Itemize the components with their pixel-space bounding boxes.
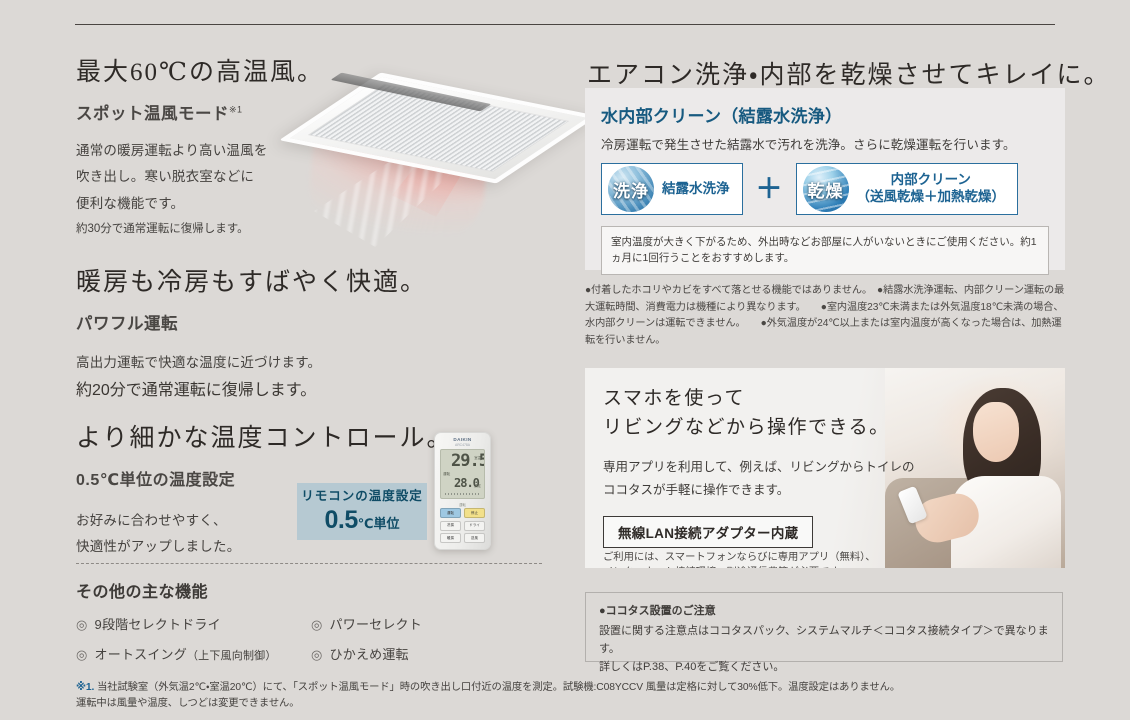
badge-unit: ℃単位 <box>358 516 400 531</box>
smartphone-headline: スマホを使って リビングなどから操作できる。 <box>603 384 890 443</box>
smartphone-headline-line2: リビングなどから操作できる。 <box>603 413 890 442</box>
chip-wash-text: 結露水洗浄 <box>662 181 730 198</box>
remote-button-cooling[interactable]: 冷房 <box>440 521 461 531</box>
spot-subhead: スポット温風モード※1 <box>76 100 324 124</box>
plus-icon: ＋ <box>756 176 783 203</box>
double-circle-icon: ◎ <box>76 647 88 663</box>
section-spot-warm-mode: 最大60℃の高温風。 スポット温風モード※1 通常の暖房運転より高い温風を 吹き… <box>76 52 324 239</box>
chip-dry: 乾燥 内部クリーン （送風乾燥＋加熱乾燥） <box>796 163 1019 215</box>
chip-dry-line1: 内部クリーン <box>857 172 1006 189</box>
smartphone-panel: スマホを使って リビングなどから操作できる。 専用アプリを利用して、例えば、リビ… <box>585 368 1065 568</box>
remote-button-start[interactable]: 運転 <box>440 508 461 518</box>
list-item-label: ひかえめ運転 <box>330 644 409 663</box>
clean-headline: エアコン洗浄・内部を乾燥させてキレイに。 <box>587 55 1111 91</box>
list-item: ◎ 9段階セレクトドライ <box>76 614 311 633</box>
chip-wash: 洗浄 結露水洗浄 <box>601 163 743 215</box>
list-item-label: パワーセレクト <box>330 614 422 633</box>
half-degree-badge: リモコンの温度設定 0.5℃単位 <box>297 483 427 540</box>
face-shape <box>973 402 1019 462</box>
list-item: ◎ オートスイング（上下風向制御） <box>76 644 311 663</box>
section-powerful-operation: 暖房も冷房もすばやく快適。 パワフル運転 高出力運転で快適な温度に近づけます。 … <box>76 262 427 400</box>
lcd-label-setting: 設定 <box>474 483 481 488</box>
spot-subhead-label: スポット温風モード <box>76 105 229 123</box>
other-functions-grid: ◎ 9段階セレクトドライ ◎ パワーセレクト ◎ オートスイング（上下風向制御）… <box>76 614 546 674</box>
smartphone-note: ご利用には、スマートフォンならびに専用アプリ（無料）、 インターネット接続環境、… <box>603 550 876 568</box>
list-item: ◎ パワーセレクト <box>311 614 546 633</box>
remote-button-row-1: 運転 停止 <box>440 508 485 518</box>
badge-caption: リモコンの温度設定 <box>297 490 427 504</box>
water-clean-subtitle: 冷房運転で発生させた結露水で汚れを洗浄。さらに乾燥運転を行います。 <box>601 134 1065 153</box>
list-item-label: 9段階セレクトドライ <box>95 614 221 633</box>
spot-headline: 最大60℃の高温風。 <box>76 52 324 88</box>
lcd-label-left: 運転 <box>443 472 450 477</box>
remote-model-label: ARC478A <box>440 443 485 447</box>
other-functions-title: その他の主な機能 <box>76 578 546 602</box>
page-root: 最大60℃の高温風。 スポット温風モード※1 通常の暖房運転より高い温風を 吹き… <box>0 0 1130 720</box>
clean-process-row: 洗浄 結露水洗浄 ＋ 乾燥 内部クリーン （送風乾燥＋加熱乾燥） <box>601 163 1065 215</box>
water-clean-note: 室内温度が大きく下がるため、外出時などお部屋に人がいないときにご使用ください。約… <box>601 226 1049 275</box>
remote-button-fan[interactable]: 送風 <box>464 533 485 543</box>
remote-button-row-2: 冷房 ドライ <box>440 521 485 531</box>
footnote-text: 当社試験室（外気温2℃・室温20℃）にて、「スポット温風モード」時の吹き出し口付… <box>76 682 900 709</box>
lcd-label-room: 室温 <box>474 455 481 460</box>
wireless-lan-badge: 無線LAN接続アダプター内蔵 <box>603 516 813 548</box>
powerful-note: 約20分で通常運転に復帰します。 <box>76 376 427 400</box>
badge-value-row: 0.5℃単位 <box>297 508 427 533</box>
water-clean-title: 水内部クリーン（結露水洗浄） <box>601 102 1065 127</box>
double-circle-icon: ◎ <box>311 647 323 663</box>
spot-footnote-marker: ※1 <box>229 105 243 115</box>
temp-headline: より細かな温度コントロール。 <box>76 418 454 454</box>
wash-disc-icon: 洗浄 <box>608 166 654 212</box>
cocotas-notice-title: ●ココタス設置のご注意 <box>599 602 1049 620</box>
powerful-subhead: パワフル運転 <box>76 310 427 334</box>
footnote-marker: ※1. <box>76 682 94 693</box>
cocotas-notice-body: 設置に関する注意点はココタスパック、システムマルチ＜ココタス接続タイプ＞で異なり… <box>599 622 1049 676</box>
remote-button-dry[interactable]: ドライ <box>464 521 485 531</box>
ceiling-unit-illustration <box>300 45 565 260</box>
lcd-indicator-bar <box>445 493 480 495</box>
wash-disc-label: 洗浄 <box>613 177 649 202</box>
daikin-logo: DAIKIN <box>440 437 485 442</box>
left-column: 最大60℃の高温風。 スポット温風モード※1 通常の暖房運転より高い温風を 吹き… <box>0 0 575 720</box>
spot-body: 通常の暖房運転より高い温風を 吹き出し。寒い脱衣室などに 便利な機能です。 <box>76 138 324 217</box>
smartphone-body: 専用アプリを利用して、例えば、リビングからトイレの ココタスが手軽に操作できます… <box>603 456 915 502</box>
list-item: ◎ ひかえめ運転 <box>311 644 546 663</box>
remote-control-photo: DAIKIN ARC478A 29.5 運転 室温 28.0 設定 運転 運転 … <box>434 432 491 550</box>
dry-disc-label: 乾燥 <box>808 177 844 202</box>
dashed-divider <box>76 563 542 564</box>
water-clean-fineprint: ●付着したホコリやカビをすべて落とせる機能ではありません。 ●結露水洗浄運転、内… <box>585 283 1067 349</box>
cocotas-notice-box: ●ココタス設置のご注意 設置に関する注意点はココタスパック、システムマルチ＜ココ… <box>585 592 1063 662</box>
powerful-body: 高出力運転で快適な温度に近づけます。 <box>76 350 427 376</box>
section-other-functions: その他の主な機能 ◎ 9段階セレクトドライ ◎ パワーセレクト ◎ オートスイン… <box>76 578 546 674</box>
remote-button-row-3: 暖房 送風 <box>440 533 485 543</box>
double-circle-icon: ◎ <box>311 617 323 633</box>
double-circle-icon: ◎ <box>76 617 88 633</box>
list-item-label: オートスイング <box>95 644 187 663</box>
remote-button-heating[interactable]: 暖房 <box>440 533 461 543</box>
remote-button-caption: 運転 <box>440 502 485 507</box>
list-item-suffix: （上下風向制御） <box>187 647 277 663</box>
chip-dry-text: 内部クリーン （送風乾燥＋加熱乾燥） <box>857 172 1006 206</box>
remote-lcd-screen: 29.5 運転 室温 28.0 設定 <box>440 449 485 499</box>
page-footnote: ※1. 当社試験室（外気温2℃・室温20℃）にて、「スポット温風モード」時の吹き… <box>76 680 1036 713</box>
spot-note: 約30分で通常運転に復帰します。 <box>76 220 324 240</box>
right-column: エアコン洗浄・内部を乾燥させてキレイに。 水内部クリーン（結露水洗浄） 冷房運転… <box>575 0 1130 720</box>
dry-disc-icon: 乾燥 <box>803 166 849 212</box>
chip-dry-line2: （送風乾燥＋加熱乾燥） <box>857 189 1006 206</box>
badge-value: 0.5 <box>324 506 357 534</box>
powerful-headline: 暖房も冷房もすばやく快適。 <box>76 262 427 298</box>
smartphone-headline-line1: スマホを使って <box>603 384 890 413</box>
remote-button-stop[interactable]: 停止 <box>464 508 485 518</box>
water-clean-panel: 水内部クリーン（結露水洗浄） 冷房運転で発生させた結露水で汚れを洗浄。さらに乾燥… <box>585 88 1065 270</box>
